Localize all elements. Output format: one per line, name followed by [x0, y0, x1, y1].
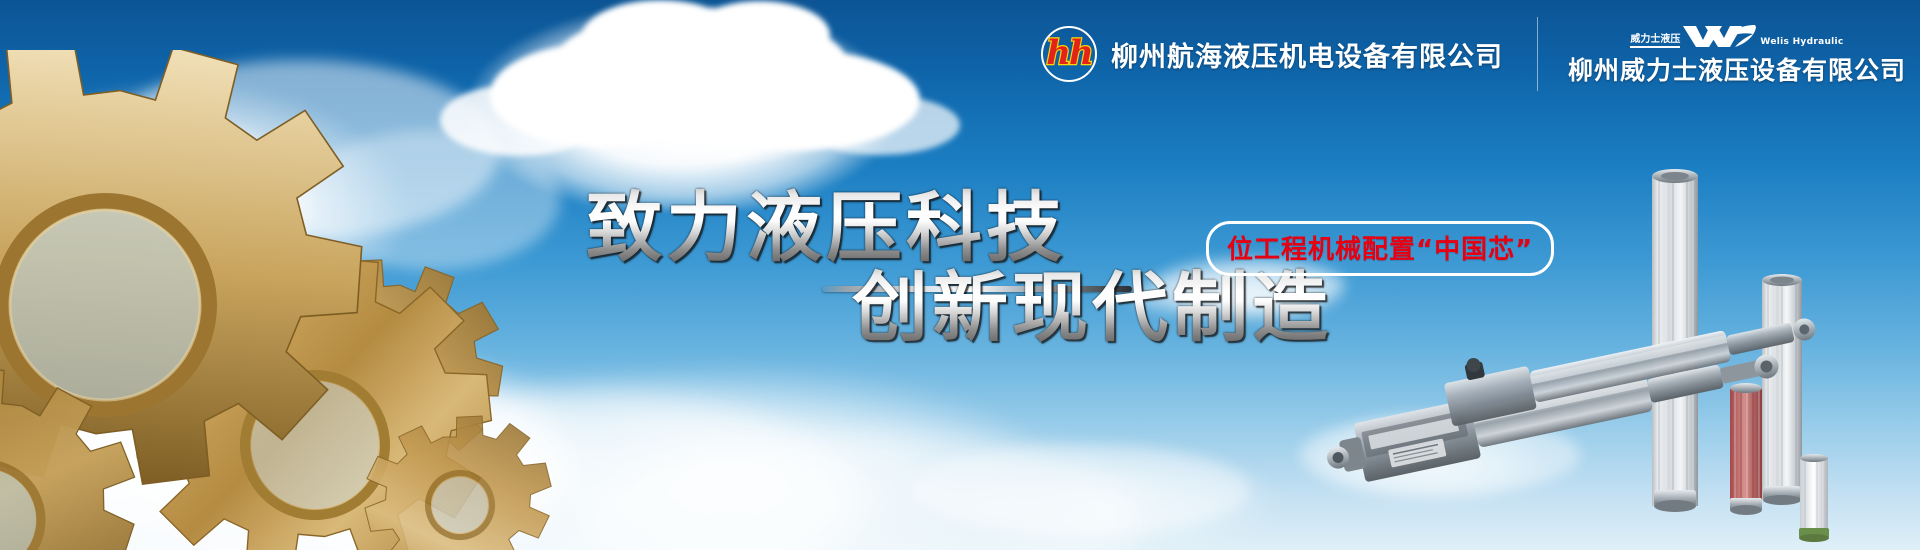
brand-hanghai-name: 柳州航海液压机电设备有限公司	[1111, 35, 1503, 74]
product-photos	[1310, 150, 1920, 550]
hh-logo-letters: hh	[1041, 25, 1097, 81]
golden-gears	[0, 50, 630, 550]
promo-banner: hh 柳州航海液压机电设备有限公司 威力士液压 Welis Hydraulic …	[0, 0, 1920, 550]
brand-hanghai[interactable]: hh 柳州航海液压机电设备有限公司	[1041, 26, 1537, 82]
welis-mark-cn: 威力士液压	[1630, 34, 1680, 48]
brand-welis-name: 柳州威力士液压设备有限公司	[1568, 51, 1906, 87]
welis-mark-en: Welis Hydraulic	[1760, 37, 1843, 48]
brand-welis[interactable]: 威力士液压 Welis Hydraulic 柳州威力士液压设备有限公司	[1538, 22, 1906, 87]
welis-logo-mark: 威力士液压 Welis Hydraulic	[1630, 22, 1843, 48]
welis-ws-symbol	[1683, 24, 1757, 48]
header-brand-bar: hh 柳州航海液压机电设备有限公司 威力士液压 Welis Hydraulic …	[1041, 16, 1906, 92]
hh-circle-logo: hh	[1041, 26, 1097, 82]
